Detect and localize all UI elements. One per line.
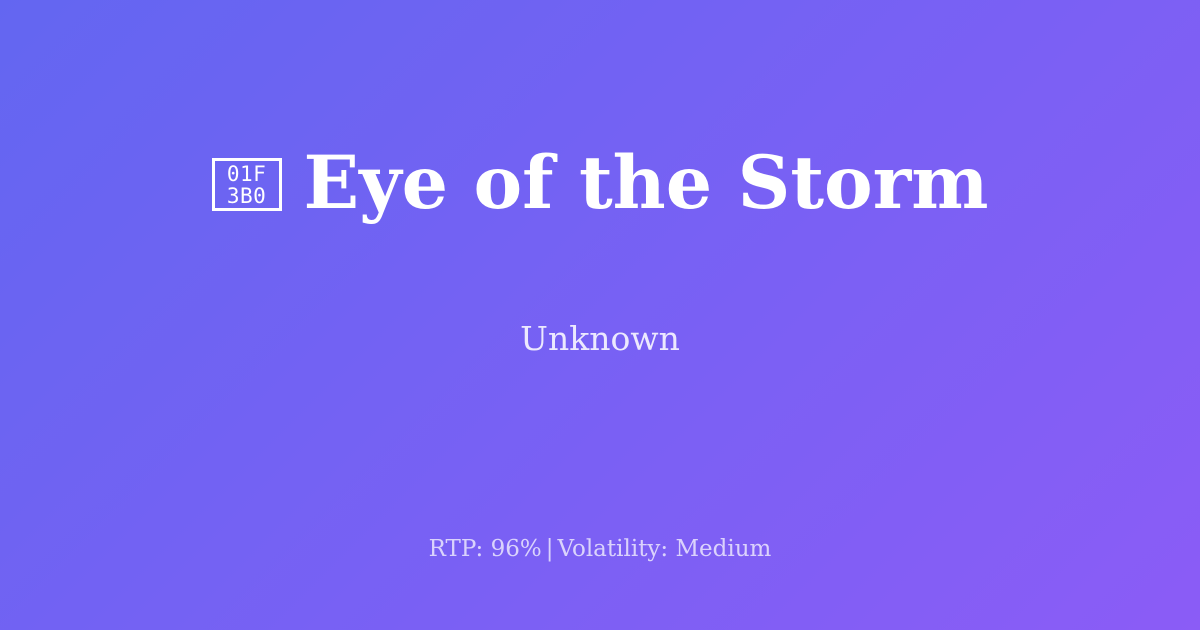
- stat-separator: |: [542, 536, 558, 562]
- game-og-card: 01F 3B0 Eye of the Storm Unknown RTP: 96…: [0, 0, 1200, 630]
- codepoint-bottom: 3B0: [227, 185, 266, 207]
- volatility-stat: Volatility: Medium: [557, 536, 771, 562]
- rtp-stat: RTP: 96%: [429, 536, 542, 562]
- game-stats-footer: RTP: 96%|Volatility: Medium: [0, 536, 1200, 564]
- title-line: 01F 3B0 Eye of the Storm: [212, 97, 989, 269]
- codepoint-top: 01F: [227, 163, 266, 185]
- slot-machine-icon: 01F 3B0: [212, 158, 282, 211]
- page-title: Eye of the Storm: [304, 146, 989, 220]
- game-provider-subtitle: Unknown: [520, 321, 680, 357]
- title-block: 01F 3B0 Eye of the Storm Unknown: [0, 0, 1200, 510]
